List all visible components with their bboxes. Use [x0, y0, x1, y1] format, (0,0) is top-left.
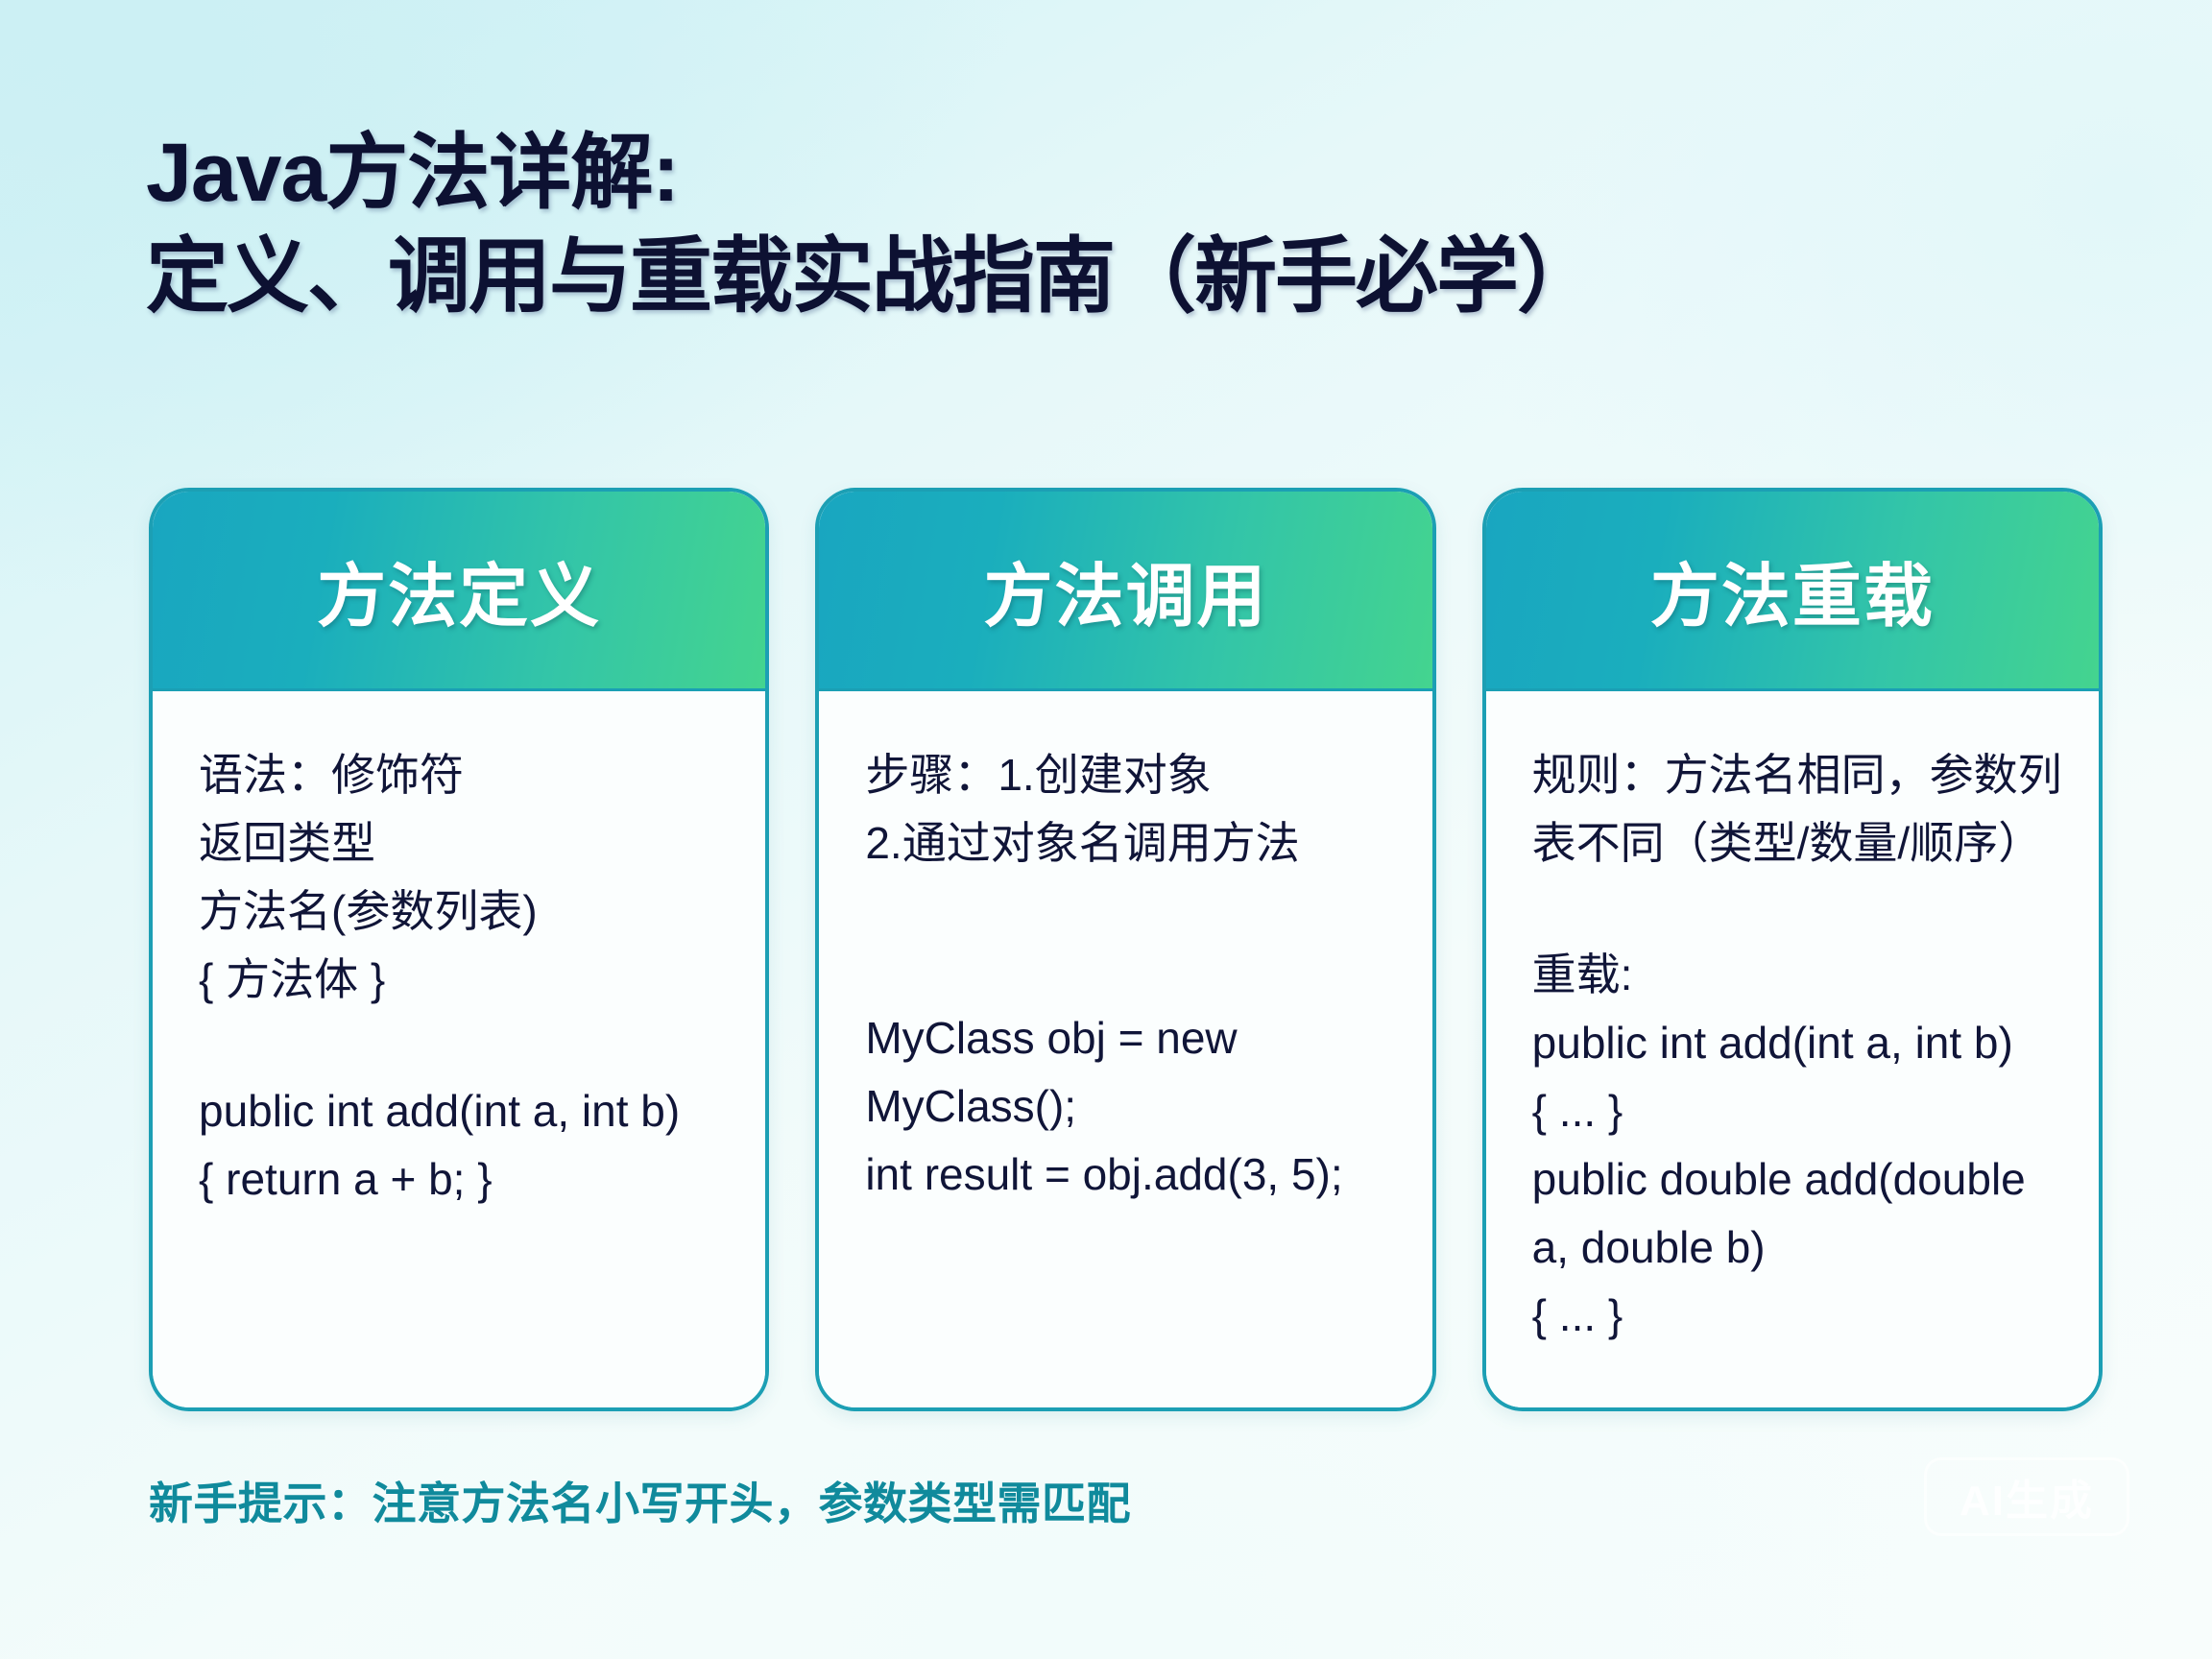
- card-code-line: int result = obj.add(3, 5);: [865, 1141, 1393, 1209]
- card-body-method-overload: 规则：方法名相同，参数列 表不同（类型/数量/顺序） 重载: public in…: [1486, 691, 2099, 1407]
- card-line: 规则：方法名相同，参数列: [1532, 741, 2060, 809]
- card-spacer: [1532, 878, 2060, 941]
- card-line: 方法名(参数列表): [199, 878, 727, 946]
- card-code-line: public double add(double: [1532, 1145, 2060, 1214]
- card-code-line: { ... }: [1532, 1077, 2060, 1145]
- card-method-overload: 方法重载 规则：方法名相同，参数列 表不同（类型/数量/顺序） 重载: publ…: [1482, 488, 2103, 1411]
- card-code-line: a, double b): [1532, 1214, 2060, 1282]
- card-header-method-overload: 方法重载: [1486, 492, 2099, 691]
- cards-row: 方法定义 语法：修饰符 返回类型 方法名(参数列表) { 方法体 } publi…: [149, 488, 2103, 1411]
- card-code-line: { ... }: [1532, 1282, 2060, 1350]
- card-line: 步骤：1.创建对象: [865, 741, 1393, 809]
- page-title-line-2: 定义、调用与重载实战指南（新手必学）: [146, 223, 2076, 330]
- card-header-method-definition: 方法定义: [153, 492, 765, 691]
- card-header-title: 方法重载: [1650, 540, 1935, 640]
- card-line: 2.通过对象名调用方法: [865, 809, 1393, 878]
- card-code-line: { return a + b; }: [199, 1145, 727, 1214]
- card-code-line: public int add(int a, int b): [199, 1077, 727, 1145]
- card-code-line: public int add(int a, int b): [1532, 1009, 2060, 1077]
- card-method-definition: 方法定义 语法：修饰符 返回类型 方法名(参数列表) { 方法体 } publi…: [149, 488, 769, 1411]
- watermark-label: AI生成: [1960, 1466, 2094, 1527]
- card-line: 重载:: [1532, 941, 2060, 1009]
- watermark-badge: AI生成: [1924, 1457, 2129, 1536]
- card-line: 返回类型: [199, 809, 727, 878]
- card-code-line: MyClass();: [865, 1072, 1393, 1141]
- page-title-line-1: Java方法详解:: [146, 123, 2076, 223]
- card-line: 表不同（类型/数量/顺序）: [1532, 809, 2060, 878]
- page-title: Java方法详解: 定义、调用与重载实战指南（新手必学）: [146, 123, 2076, 330]
- card-header-title: 方法定义: [317, 540, 601, 640]
- card-body-method-call: 步骤：1.创建对象 2.通过对象名调用方法 MyClass obj = new …: [819, 691, 1431, 1407]
- infographic-canvas: Java方法详解: 定义、调用与重载实战指南（新手必学） 方法定义 语法：修饰符…: [0, 0, 2212, 1659]
- card-spacer: [865, 941, 1393, 1004]
- footer-tip: 新手提示：注意方法名小写开头，参数类型需匹配: [149, 1469, 1131, 1532]
- card-code-line: MyClass obj = new: [865, 1004, 1393, 1072]
- card-header-method-call: 方法调用: [819, 492, 1431, 691]
- card-body-method-definition: 语法：修饰符 返回类型 方法名(参数列表) { 方法体 } public int…: [153, 691, 765, 1407]
- card-spacer: [199, 1014, 727, 1077]
- card-spacer: [865, 878, 1393, 941]
- card-line: { 方法体 }: [199, 946, 727, 1014]
- card-line: 语法：修饰符: [199, 741, 727, 809]
- card-header-title: 方法调用: [983, 540, 1267, 640]
- card-method-call: 方法调用 步骤：1.创建对象 2.通过对象名调用方法 MyClass obj =…: [815, 488, 1435, 1411]
